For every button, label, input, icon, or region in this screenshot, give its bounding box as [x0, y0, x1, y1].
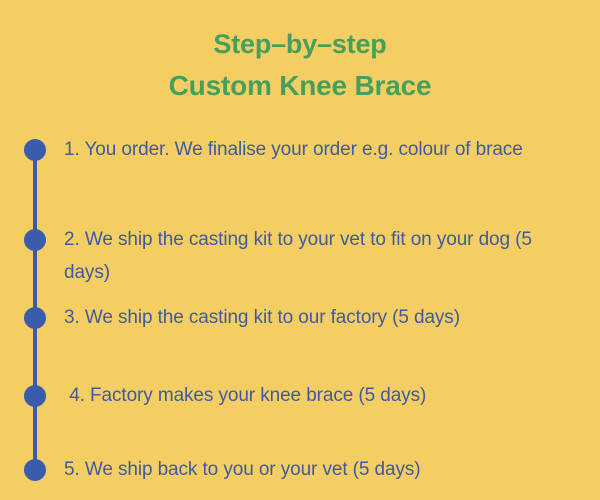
- timeline-step-label: 2. We ship the casting kit to your vet t…: [64, 223, 564, 289]
- timeline-dot-icon: [24, 459, 46, 481]
- timeline-step-label: 4. Factory makes your knee brace (5 days…: [64, 379, 564, 412]
- timeline-dot-icon: [24, 307, 46, 329]
- page-title: Step–by–step Custom Knee Brace: [0, 0, 600, 107]
- timeline-dot-icon: [24, 229, 46, 251]
- timeline-step-label: 3. We ship the casting kit to our factor…: [64, 301, 564, 334]
- timeline-dot-icon: [24, 385, 46, 407]
- title-line-primary: Step–by–step: [0, 24, 600, 65]
- timeline-dot-icon: [24, 139, 46, 161]
- title-line-secondary: Custom Knee Brace: [0, 65, 600, 107]
- process-timeline: 1. You order. We finalise your order e.g…: [0, 128, 600, 500]
- timeline-step-label: 5. We ship back to you or your vet (5 da…: [64, 453, 564, 486]
- infographic-canvas: Step–by–step Custom Knee Brace 1. You or…: [0, 0, 600, 500]
- timeline-step-label: 1. You order. We finalise your order e.g…: [64, 133, 564, 166]
